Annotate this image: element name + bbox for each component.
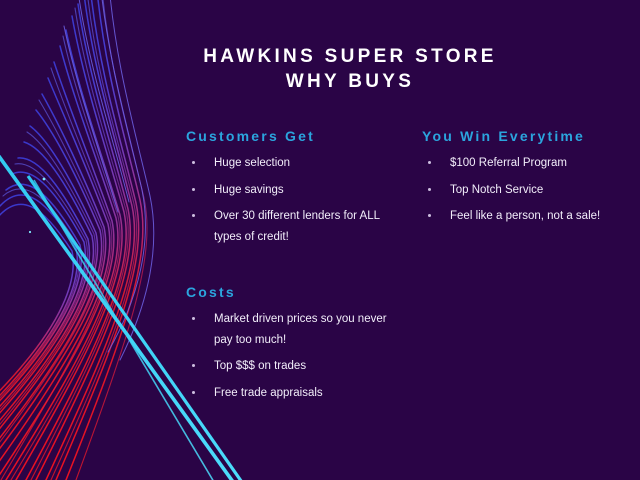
title-line-1: HAWKINS SUPER STORE bbox=[150, 44, 550, 69]
section-heading-costs: Costs bbox=[186, 284, 401, 300]
list-item-label: Market driven prices so you never pay to… bbox=[214, 309, 401, 350]
bullet-dot-icon bbox=[192, 161, 195, 164]
list-item: Huge savings bbox=[186, 180, 401, 201]
list-item-label: Huge savings bbox=[214, 180, 401, 201]
bullet-dot-icon bbox=[192, 364, 195, 367]
bullet-dot-icon bbox=[192, 391, 195, 394]
list-item-label: Top $$$ on trades bbox=[214, 356, 401, 377]
slide-title: HAWKINS SUPER STORE WHY BUYS bbox=[150, 44, 550, 94]
list-item-label: Over 30 different lenders for ALL types … bbox=[214, 206, 401, 247]
list-item-label: Free trade appraisals bbox=[214, 383, 401, 404]
bullet-dot-icon bbox=[192, 214, 195, 217]
list-item: Free trade appraisals bbox=[186, 383, 401, 404]
list-item-label: Top Notch Service bbox=[450, 180, 627, 201]
list-item: Over 30 different lenders for ALL types … bbox=[186, 206, 401, 247]
section-heading-customers-get: Customers Get bbox=[186, 128, 401, 144]
list-item: Huge selection bbox=[186, 153, 401, 174]
list-item-label: Feel like a person, not a sale! bbox=[450, 206, 627, 227]
list-item: Top $$$ on trades bbox=[186, 356, 401, 377]
section-customers-get: Customers Get Huge selection Huge saving… bbox=[186, 128, 401, 253]
slide-canvas: HAWKINS SUPER STORE WHY BUYS Customers G… bbox=[0, 0, 640, 480]
bullet-dot-icon bbox=[192, 188, 195, 191]
section-heading-you-win-everytime: You Win Everytime bbox=[422, 128, 627, 144]
list-item: Top Notch Service bbox=[422, 180, 627, 201]
bullet-dot-icon bbox=[192, 317, 195, 320]
list-item-label: $100 Referral Program bbox=[450, 153, 627, 174]
bullet-dot-icon bbox=[428, 214, 431, 217]
bullet-dot-icon bbox=[428, 188, 431, 191]
bullet-list-customers-get: Huge selection Huge savings Over 30 diff… bbox=[186, 153, 401, 247]
list-item: Market driven prices so you never pay to… bbox=[186, 309, 401, 350]
list-item: $100 Referral Program bbox=[422, 153, 627, 174]
bullet-list-you-win-everytime: $100 Referral Program Top Notch Service … bbox=[422, 153, 627, 227]
bullet-dot-icon bbox=[428, 161, 431, 164]
section-you-win-everytime: You Win Everytime $100 Referral Program … bbox=[422, 128, 627, 233]
list-item: Feel like a person, not a sale! bbox=[422, 206, 627, 227]
list-item-label: Huge selection bbox=[214, 153, 401, 174]
bullet-list-costs: Market driven prices so you never pay to… bbox=[186, 309, 401, 403]
title-line-2: WHY BUYS bbox=[150, 69, 550, 94]
section-costs: Costs Market driven prices so you never … bbox=[186, 284, 401, 409]
